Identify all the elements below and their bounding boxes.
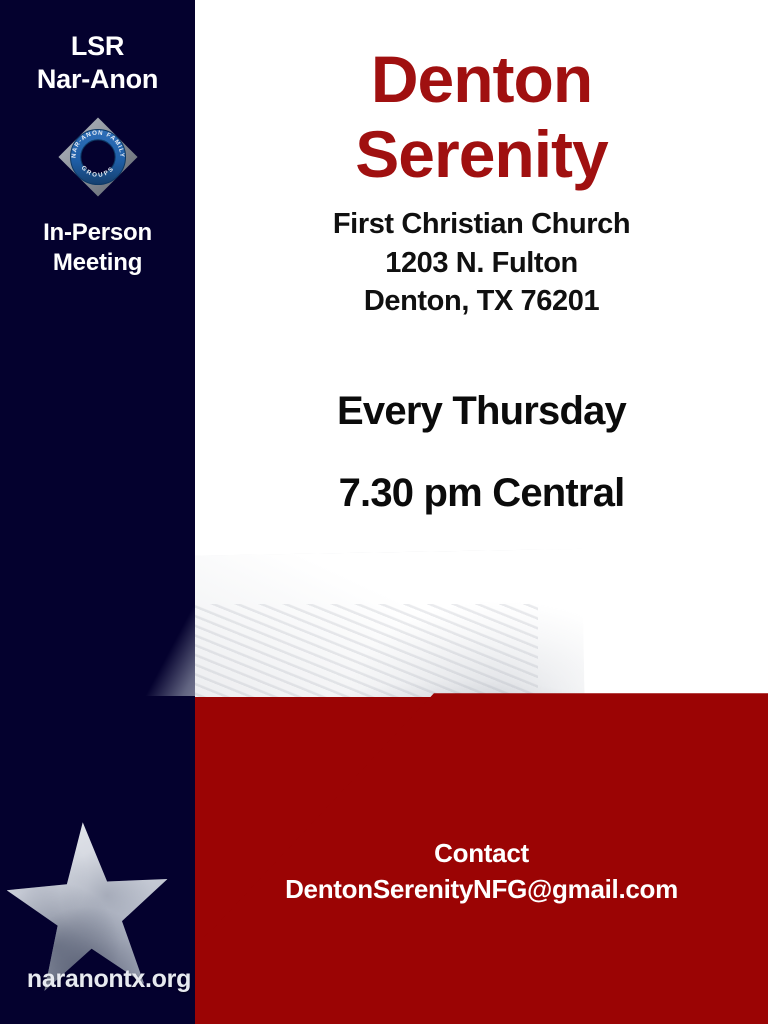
meeting-format-line2: Meeting xyxy=(0,248,195,278)
page-title-line2: Serenity xyxy=(195,117,768,192)
schedule-time: 7.30 pm Central xyxy=(195,473,768,513)
organization-name: LSR Nar-Anon xyxy=(0,30,195,96)
venue-city-state-zip: Denton, TX 76201 xyxy=(195,282,768,321)
venue-address: First Christian Church 1203 N. Fulton De… xyxy=(195,205,768,321)
page-title-line1: Denton xyxy=(195,42,768,117)
meeting-flyer: LSR Nar-Anon xyxy=(0,0,768,1024)
page-title: Denton Serenity xyxy=(195,42,768,191)
meeting-schedule: Every Thursday 7.30 pm Central xyxy=(195,391,768,513)
main-content: Denton Serenity First Christian Church 1… xyxy=(195,0,768,513)
contact-email[interactable]: DentonSerenityNFG@gmail.com xyxy=(195,871,768,908)
venue-street: 1203 N. Fulton xyxy=(195,244,768,283)
contact-section: Contact DentonSerenityNFG@gmail.com xyxy=(195,835,768,909)
nar-anon-logo-svg: NAR-ANON FAMILY GROUPS xyxy=(55,114,141,200)
meeting-format-line1: In-Person xyxy=(0,218,195,248)
contact-label: Contact xyxy=(195,835,768,872)
nar-anon-family-groups-logo: NAR-ANON FAMILY GROUPS xyxy=(55,114,141,200)
website-url[interactable]: naranontx.org xyxy=(27,965,191,994)
organization-name-line2: Nar-Anon xyxy=(0,63,195,96)
sidebar: LSR Nar-Anon xyxy=(0,0,195,278)
venue-name: First Christian Church xyxy=(195,205,768,244)
schedule-day: Every Thursday xyxy=(337,389,626,433)
organization-name-line1: LSR xyxy=(0,30,195,63)
meeting-format: In-Person Meeting xyxy=(0,218,195,278)
